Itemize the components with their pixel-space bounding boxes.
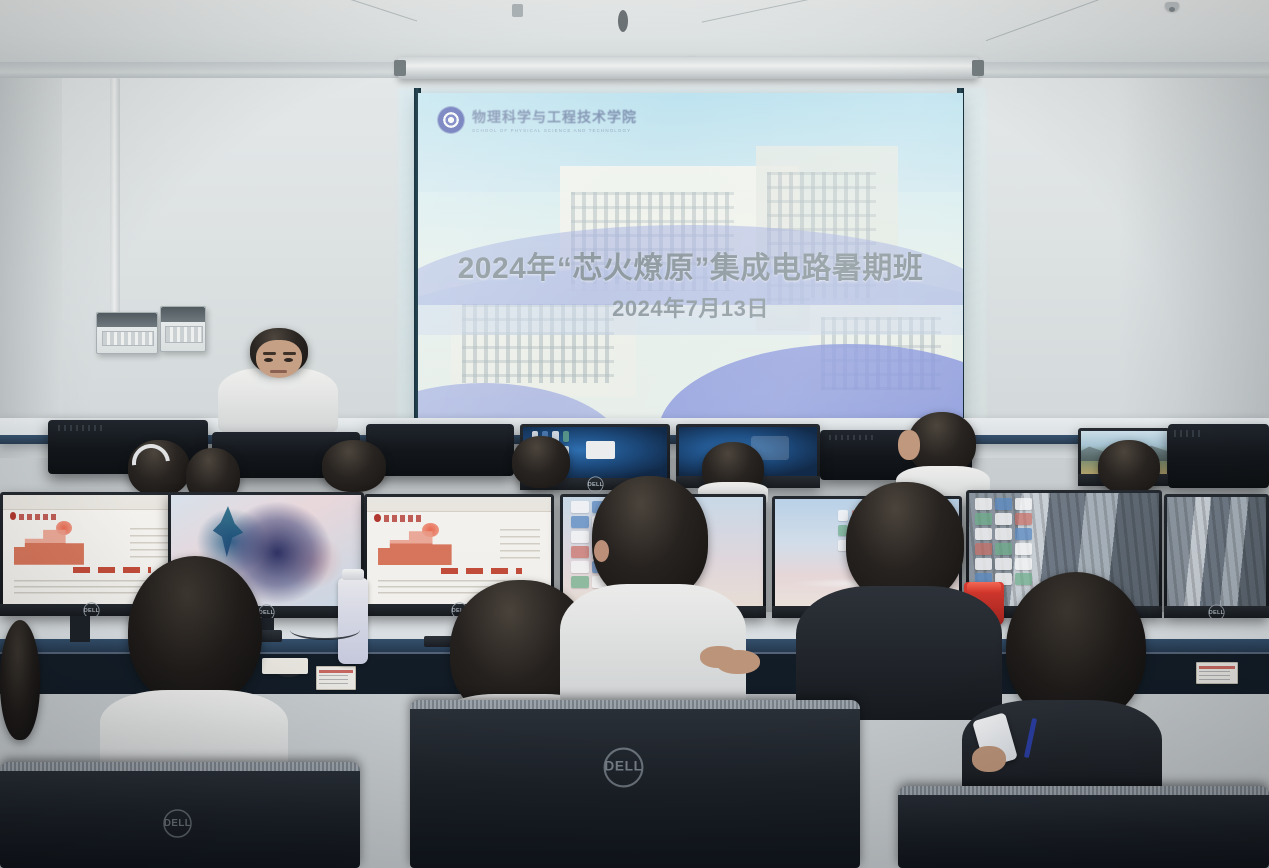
projection-screen: 物理科学与工程技术学院 SCHOOL OF PHYSICAL SCIENCE A… xyxy=(418,93,963,423)
dell-logo-icon: DELL xyxy=(604,748,644,788)
presentation-slide: 物理科学与工程技术学院 SCHOOL OF PHYSICAL SCIENCE A… xyxy=(418,93,963,423)
ceiling-speaker-icon xyxy=(618,10,628,32)
dell-logo-icon: DELL xyxy=(1208,604,1224,620)
slide-date: 2024年7月13日 xyxy=(418,291,963,323)
wall-shading xyxy=(1119,78,1269,458)
chair[interactable] xyxy=(898,786,1269,868)
school-name-cn: 物理科学与工程技术学院 xyxy=(472,107,637,127)
classroom-photo: 物理科学与工程技术学院 SCHOOL OF PHYSICAL SCIENCE A… xyxy=(0,0,1269,868)
monitor-back xyxy=(366,424,514,476)
ceiling-vent-icon xyxy=(512,4,523,17)
dell-logo-icon: DELL xyxy=(163,809,192,838)
school-emblem-icon xyxy=(438,107,464,133)
wall-conduit xyxy=(110,78,120,338)
left-wall xyxy=(0,78,62,458)
electrical-panel xyxy=(96,312,158,354)
monitor: DELL xyxy=(1164,494,1269,618)
desk-papers xyxy=(262,658,308,674)
monitor-back xyxy=(1168,424,1269,488)
dell-logo-icon: DELL xyxy=(587,476,603,492)
desk-asset-label xyxy=(1196,662,1238,684)
slide-title: 2024年“芯火燎原”集成电路暑期班 xyxy=(418,243,963,287)
roller-bracket xyxy=(394,60,406,76)
desk-asset-label xyxy=(316,666,356,690)
roller-bracket xyxy=(972,60,984,76)
school-logo: 物理科学与工程技术学院 SCHOOL OF PHYSICAL SCIENCE A… xyxy=(438,107,637,133)
chair[interactable]: DELL xyxy=(410,700,860,868)
chair[interactable]: DELL xyxy=(0,762,360,868)
electrical-panel xyxy=(160,306,206,352)
school-name-en: SCHOOL OF PHYSICAL SCIENCE AND TECHNOLOG… xyxy=(472,128,637,133)
projection-screen-roller xyxy=(398,57,978,79)
